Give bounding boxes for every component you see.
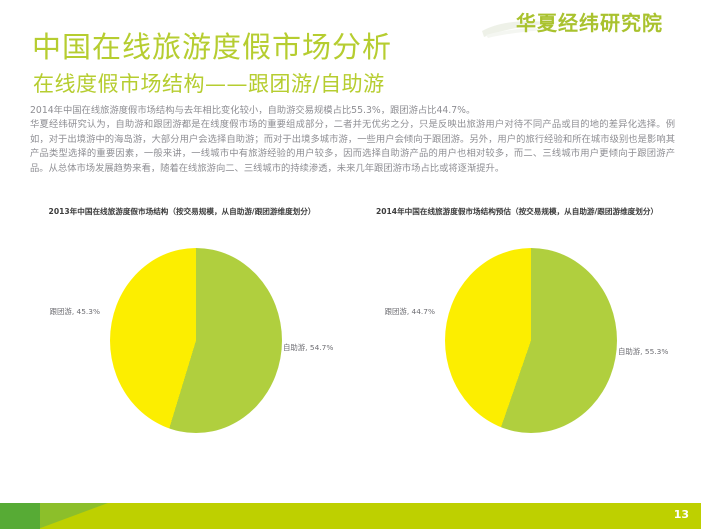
footer-bar: 13 [0,503,701,529]
chart-2014: 2014年中国在线旅游度假市场结构预估（按交易规模，从自助游/跟团游维度划分） … [353,206,683,456]
pie-area-2013: 跟团游, 45.3% 自助游, 54.7% [18,242,348,452]
pie-label-gentuan-2014: 跟团游, 44.7% [385,306,435,317]
logo-text: 华夏经纬研究院 [516,7,663,36]
pie-label-zizhu-2014: 自助游, 55.3% [618,346,668,357]
charts-row: 2013年中国在线旅游度假市场结构（按交易规模，从自助游/跟团游维度划分） 跟团… [0,206,701,456]
page-subtitle: 在线度假市场结构——跟团游/自助游 [33,68,385,98]
logo: 华夏经纬研究院 [480,7,680,41]
pie-chart-2013 [110,248,282,433]
footer-wedge-shape [40,503,110,529]
slide-canvas: 华夏经纬研究院 中国在线旅游度假市场分析 在线度假市场结构——跟团游/自助游 2… [0,0,701,529]
pie-chart-2014 [445,248,617,433]
chart-title-2013: 2013年中国在线旅游度假市场结构（按交易规模，从自助游/跟团游维度划分） [32,206,332,218]
chart-title-2014: 2014年中国在线旅游度假市场结构预估（按交易规模，从自助游/跟团游维度划分） [367,206,667,218]
pie-area-2014: 跟团游, 44.7% 自助游, 55.3% [353,242,683,452]
footer-accent-block [0,503,40,529]
body-copy: 2014年中国在线旅游度假市场结构与去年相比变化较小，自助游交易规模占比55.3… [30,104,675,176]
page-number: 13 [674,508,689,521]
pie-label-gentuan-2013: 跟团游, 45.3% [50,306,100,317]
chart-2013: 2013年中国在线旅游度假市场结构（按交易规模，从自助游/跟团游维度划分） 跟团… [18,206,348,456]
pie-label-zizhu-2013: 自助游, 54.7% [283,342,333,353]
body-paragraph-2: 华夏经纬研究认为，自助游和跟团游都是在线度假市场的重要组成部分，二者并无优劣之分… [30,118,675,176]
page-title: 中国在线旅游度假市场分析 [32,24,392,66]
body-paragraph-1: 2014年中国在线旅游度假市场结构与去年相比变化较小，自助游交易规模占比55.3… [30,104,675,118]
